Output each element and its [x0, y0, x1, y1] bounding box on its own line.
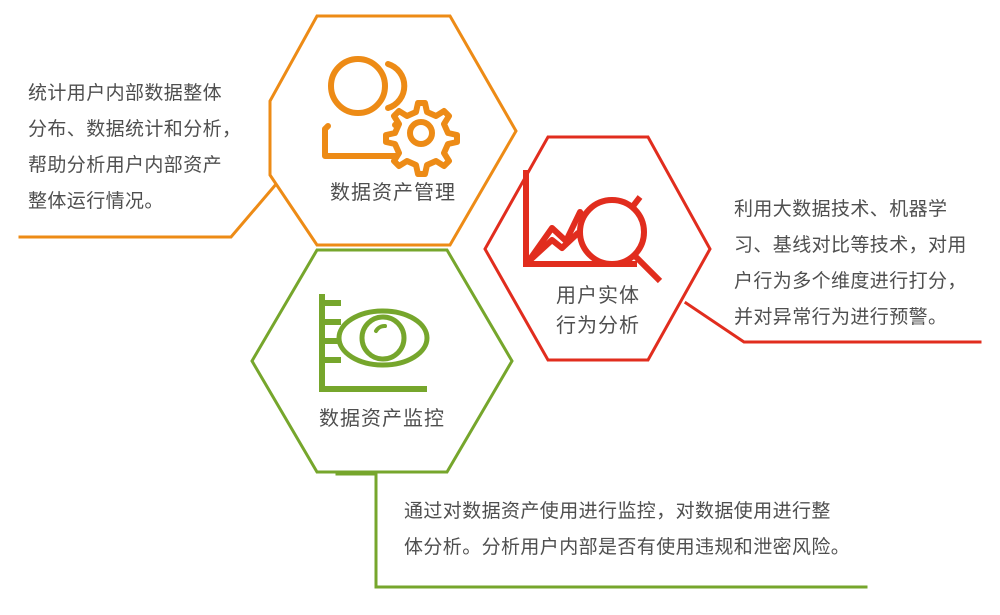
hexagon-label-asset-management: 数据资产管理: [293, 178, 493, 208]
hexagon-asset-monitoring[interactable]: [252, 250, 512, 472]
hexagon-label-ueba: 用户实体 行为分析: [498, 281, 698, 341]
hexagon-label-asset-monitoring: 数据资产监控: [282, 404, 482, 434]
diagram-canvas: 数据资产管理 用户实体 行为分析 数据资产监控 统计用户内部数据整体 分布、数据…: [0, 0, 1000, 615]
description-asset-monitoring: 通过对数据资产使用进行监控，对数据使用进行整 体分析。分析用户内部是否有使用违规…: [404, 494, 904, 566]
description-asset-management: 统计用户内部数据整体 分布、数据统计和分析， 帮助分析用户内部资产 整体运行情况…: [28, 76, 264, 220]
hexagon-asset-management[interactable]: [270, 16, 516, 245]
description-ueba: 利用大数据技术、机器学 习、基线对比等技术，对用 户行为多个维度进行打分， 并对…: [734, 192, 986, 336]
